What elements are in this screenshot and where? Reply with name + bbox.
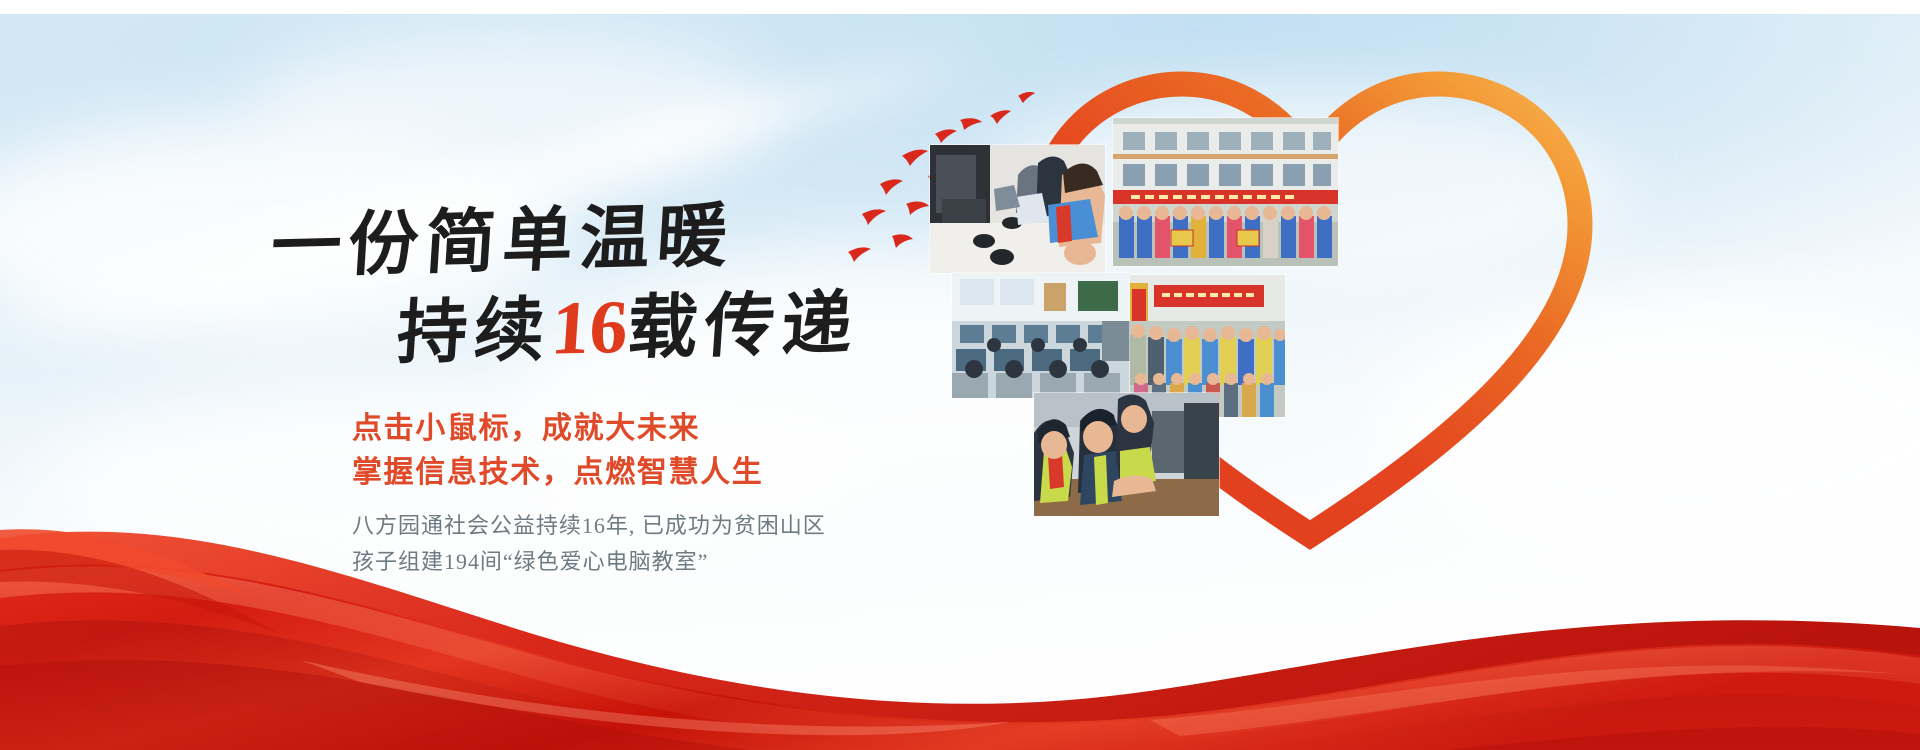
photo-school-building-group-photo bbox=[1113, 118, 1338, 266]
charity-banner: 一份简单温暖 持续16载传递 点击小鼠标，成就大未来 掌握信息技术，点燃智慧人生… bbox=[0, 0, 1920, 750]
headline-line-2-prefix: 持续 bbox=[395, 293, 554, 373]
red-ribbon-wave bbox=[0, 420, 1920, 750]
headline-line-2: 持续16载传递 bbox=[394, 267, 862, 378]
headline-years-number: 16 bbox=[549, 285, 631, 371]
headline-line-2-suffix: 载传递 bbox=[625, 286, 861, 368]
photo-computer-classroom-rows bbox=[952, 273, 1132, 398]
photo-kids-at-computers-with-mice bbox=[930, 145, 1105, 273]
